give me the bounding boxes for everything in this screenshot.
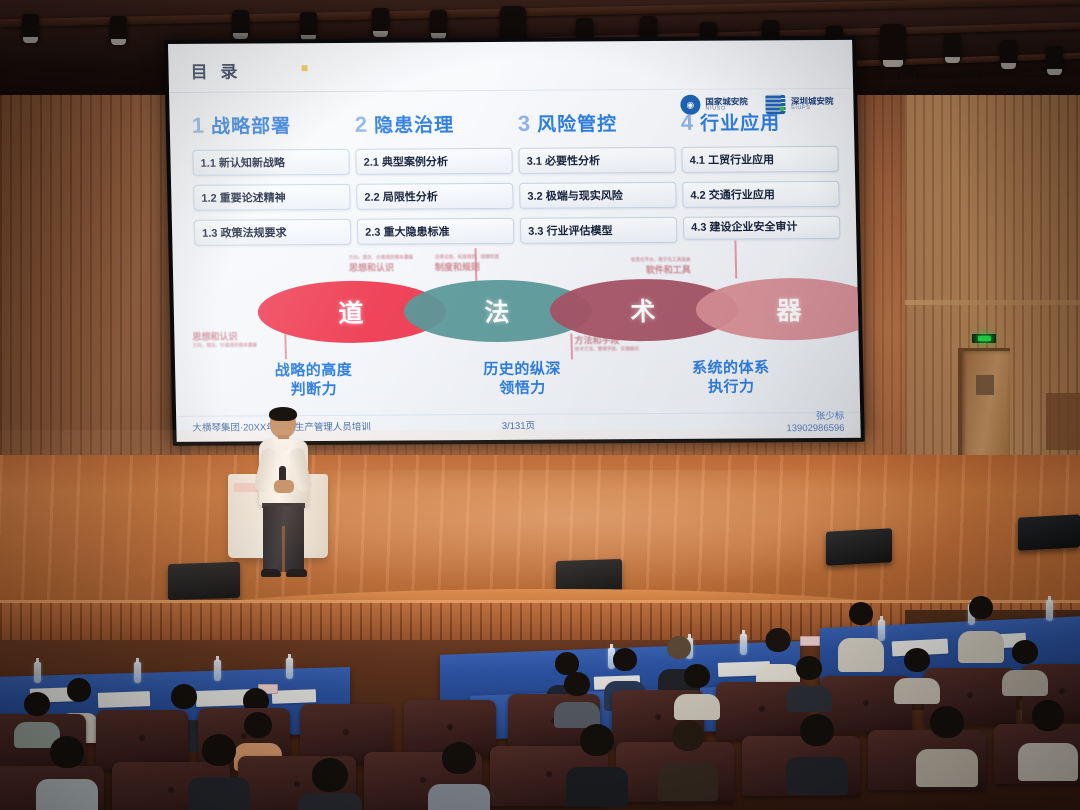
person-head — [667, 636, 691, 659]
audience-member — [430, 742, 488, 810]
person-torso — [838, 638, 884, 672]
ellipse-annotation: 方向、理念、价值观的根本遵循 思想和认识 — [349, 254, 414, 273]
agenda-item[interactable]: 3.2 极端与现实风险 — [519, 182, 677, 209]
person-torso — [298, 793, 362, 810]
ellipse-annotation: 法律法规、标准规范、规章制度 制度和规则 — [435, 254, 500, 273]
stage-monitor-speaker — [826, 528, 892, 565]
annotation-sub: 方向、理念、价值观的根本遵循 — [349, 254, 413, 260]
audience-member — [788, 714, 846, 784]
person-torso — [958, 631, 1004, 663]
concept-ellipse[interactable]: 器 — [695, 278, 861, 341]
agenda-column-4: 4 行业应用 4.1 工贸行业应用 4.2 交通行业应用 4.3 建设企业安全审… — [681, 108, 841, 252]
person-head — [672, 720, 704, 751]
agenda-sections: 1 战略部署 1.1 新认知新战略 1.2 重要论述精神 1.3 政策法规要求 … — [191, 108, 840, 255]
presenter-shoe-right — [286, 569, 307, 577]
audience-member — [16, 692, 58, 740]
presenter-hair — [269, 407, 297, 421]
section-title: 行业应用 — [700, 108, 781, 135]
person-head — [171, 684, 197, 709]
name-card — [800, 636, 820, 646]
title-accent-dot-icon — [301, 65, 307, 71]
section-header: 4 行业应用 — [681, 108, 839, 136]
water-bottle — [34, 662, 41, 683]
exit-door[interactable] — [958, 348, 1010, 463]
door-window — [976, 375, 994, 395]
water-bottle — [134, 662, 141, 683]
person-torso — [786, 686, 832, 712]
stage-light-icon — [1000, 40, 1017, 66]
audience-member — [190, 734, 248, 804]
annotation-sub: 信息化平台、数字化工具装备 — [631, 257, 691, 263]
person-head — [1032, 700, 1064, 731]
person-torso — [1018, 743, 1078, 781]
stage-light-icon — [22, 14, 39, 40]
exit-sign-icon — [972, 334, 996, 343]
agenda-column-2: 2 隐患治理 2.1 典型案例分析 2.2 局限性分析 2.3 重大隐患标准 — [355, 110, 515, 254]
audience-member — [918, 706, 976, 776]
person-head — [904, 648, 930, 672]
agenda-item[interactable]: 3.3 行业评估模型 — [520, 217, 678, 244]
person-head — [969, 596, 993, 619]
annotation-label: 制度和规则 — [435, 260, 500, 273]
agenda-item[interactable]: 4.3 建设企业安全审计 — [683, 216, 841, 240]
person-head — [849, 602, 873, 625]
stage-light-icon — [110, 16, 127, 42]
slide-title: 目 录 — [190, 58, 241, 83]
bottom-label-line2: 执行力 — [692, 377, 770, 397]
stage-light-icon — [372, 8, 389, 34]
person-head — [244, 712, 272, 738]
agenda-item[interactable]: 3.1 必要性分析 — [518, 147, 676, 174]
annotation-sub: 法律法规、标准规范、规章制度 — [435, 254, 499, 260]
stage-monitor-speaker — [1018, 514, 1080, 550]
person-torso — [188, 777, 250, 810]
bottom-label: 系统的体系 执行力 — [692, 358, 770, 397]
annotation-sub: 技术方法、管理手段、实施路径 — [575, 346, 639, 352]
audience-member — [896, 648, 938, 696]
bottom-label: 历史的纵深 领悟力 — [483, 360, 561, 399]
stage-light-icon — [944, 34, 961, 60]
presenter-shoe-left — [261, 569, 281, 577]
agenda-item[interactable]: 1.1 新认知新战略 — [192, 149, 350, 176]
document-paper — [98, 691, 150, 708]
presenter-leg-gap — [282, 526, 285, 572]
section-title: 隐患治理 — [374, 110, 455, 137]
person-head — [442, 742, 476, 774]
auditorium-scene: 目 录 ◉ 国家城安院 NIUSO 深圳城安院 SIUPS — [0, 0, 1080, 810]
bottom-label-line2: 判断力 — [275, 380, 353, 400]
audience-member — [660, 720, 716, 790]
audience-member — [788, 656, 830, 704]
audience-member — [568, 724, 626, 794]
projection-screen: 目 录 ◉ 国家城安院 NIUSO 深圳城安院 SIUPS — [168, 40, 861, 442]
bottom-label-line1: 战略的高度 — [275, 361, 353, 381]
agenda-column-1: 1 战略部署 1.1 新认知新战略 1.2 重要论述精神 1.3 政策法规要求 — [191, 111, 351, 255]
stage-light-icon — [300, 12, 317, 38]
person-torso — [428, 784, 490, 810]
agenda-item[interactable]: 2.2 局限性分析 — [356, 183, 514, 210]
section-header: 3 风险管控 — [518, 109, 676, 137]
person-head — [312, 758, 348, 792]
annotation-sub: 方向、理念、价值观的根本遵循 — [193, 342, 257, 348]
person-head — [684, 664, 710, 688]
title-divider — [169, 88, 853, 93]
stage-light-icon — [232, 10, 249, 36]
stage-light-icon — [430, 10, 447, 36]
person-head — [202, 734, 236, 766]
audience-member — [840, 602, 882, 660]
person-torso — [1002, 670, 1048, 696]
presenter — [248, 408, 318, 580]
water-bottle — [286, 658, 293, 679]
document-paper — [272, 689, 316, 704]
agenda-item[interactable]: 2.3 重大隐患标准 — [357, 218, 515, 245]
presentation-slide: 目 录 ◉ 国家城安院 NIUSO 深圳城安院 SIUPS — [168, 40, 861, 442]
bottom-label-line2: 领悟力 — [484, 379, 562, 399]
section-header: 2 隐患治理 — [355, 110, 513, 138]
person-head — [613, 648, 637, 671]
agenda-column-3: 3 风险管控 3.1 必要性分析 3.2 极端与现实风险 3.3 行业评估模型 — [518, 109, 678, 253]
section-number: 3 — [518, 111, 531, 137]
agenda-item[interactable]: 4.1 工贸行业应用 — [681, 146, 839, 173]
section-number: 2 — [355, 112, 368, 138]
lighting-truss — [0, 0, 1080, 27]
concept-ellipse-band: 道 法 术 器 — [257, 278, 778, 343]
footer-contact-phone: 13902986596 — [786, 422, 844, 434]
annotation-label: 思想和认识 — [192, 329, 257, 342]
ellipse-annotation: 信息化平台、数字化工具装备 软件和工具 — [631, 257, 691, 276]
bottom-label-row: 战略的高度 判断力 历史的纵深 领悟力 系统的体系 执行力 — [209, 358, 836, 400]
person-head — [564, 672, 590, 696]
person-head — [50, 736, 84, 768]
person-head — [766, 628, 791, 652]
slide-page-number: 3/131页 — [502, 417, 536, 431]
annotation-label: 思想和认识 — [349, 260, 414, 273]
stage-monitor-speaker — [168, 562, 240, 601]
footer-contact: 张少标 13902986596 — [786, 410, 845, 434]
bottom-label-line1: 历史的纵深 — [483, 360, 561, 380]
section-header: 1 战略部署 — [191, 111, 349, 139]
audience-member — [556, 672, 598, 720]
agenda-item[interactable]: 1.2 重要论述精神 — [193, 184, 351, 211]
stage-light-icon — [1046, 46, 1063, 72]
agenda-item[interactable]: 2.1 典型案例分析 — [355, 148, 513, 175]
person-torso — [658, 763, 718, 801]
person-head — [800, 714, 834, 746]
person-head — [24, 692, 50, 716]
audience-member — [1004, 640, 1046, 688]
stage-light-icon — [880, 24, 906, 64]
audience-member — [960, 596, 1002, 652]
water-bottle — [214, 660, 221, 681]
agenda-item[interactable]: 1.3 政策法规要求 — [194, 219, 352, 246]
audience-member — [300, 758, 360, 810]
person-torso — [894, 678, 940, 704]
person-head — [67, 678, 91, 702]
section-number: 1 — [192, 113, 205, 139]
person-torso — [674, 694, 720, 720]
section-number: 4 — [681, 110, 694, 136]
ellipse-annotation: 思想和认识 方向、理念、价值观的根本遵循 — [192, 329, 257, 348]
presenter-hands — [274, 480, 294, 493]
theater-seat[interactable] — [96, 710, 188, 770]
person-torso — [916, 749, 978, 787]
wall-panel — [1046, 393, 1080, 450]
person-head — [1012, 640, 1038, 664]
water-bottle — [1046, 600, 1053, 621]
audience-member — [676, 664, 718, 712]
person-head — [580, 724, 614, 756]
person-torso — [786, 757, 848, 795]
audience-member — [1020, 700, 1076, 770]
audience-member — [38, 736, 96, 806]
water-bottle — [740, 634, 747, 655]
person-head — [796, 656, 822, 680]
bottom-label: 战略的高度 判断力 — [275, 361, 353, 400]
person-head — [930, 706, 964, 738]
person-torso — [566, 767, 628, 807]
bottom-label-line1: 系统的体系 — [692, 358, 770, 378]
person-torso — [36, 779, 98, 810]
section-title: 战略部署 — [211, 111, 292, 138]
annotation-label: 软件和工具 — [631, 263, 691, 276]
wall-trim — [905, 300, 1080, 305]
footer-contact-name: 张少标 — [786, 410, 844, 422]
agenda-item[interactable]: 4.2 交通行业应用 — [682, 181, 840, 208]
section-title: 风险管控 — [537, 109, 618, 136]
